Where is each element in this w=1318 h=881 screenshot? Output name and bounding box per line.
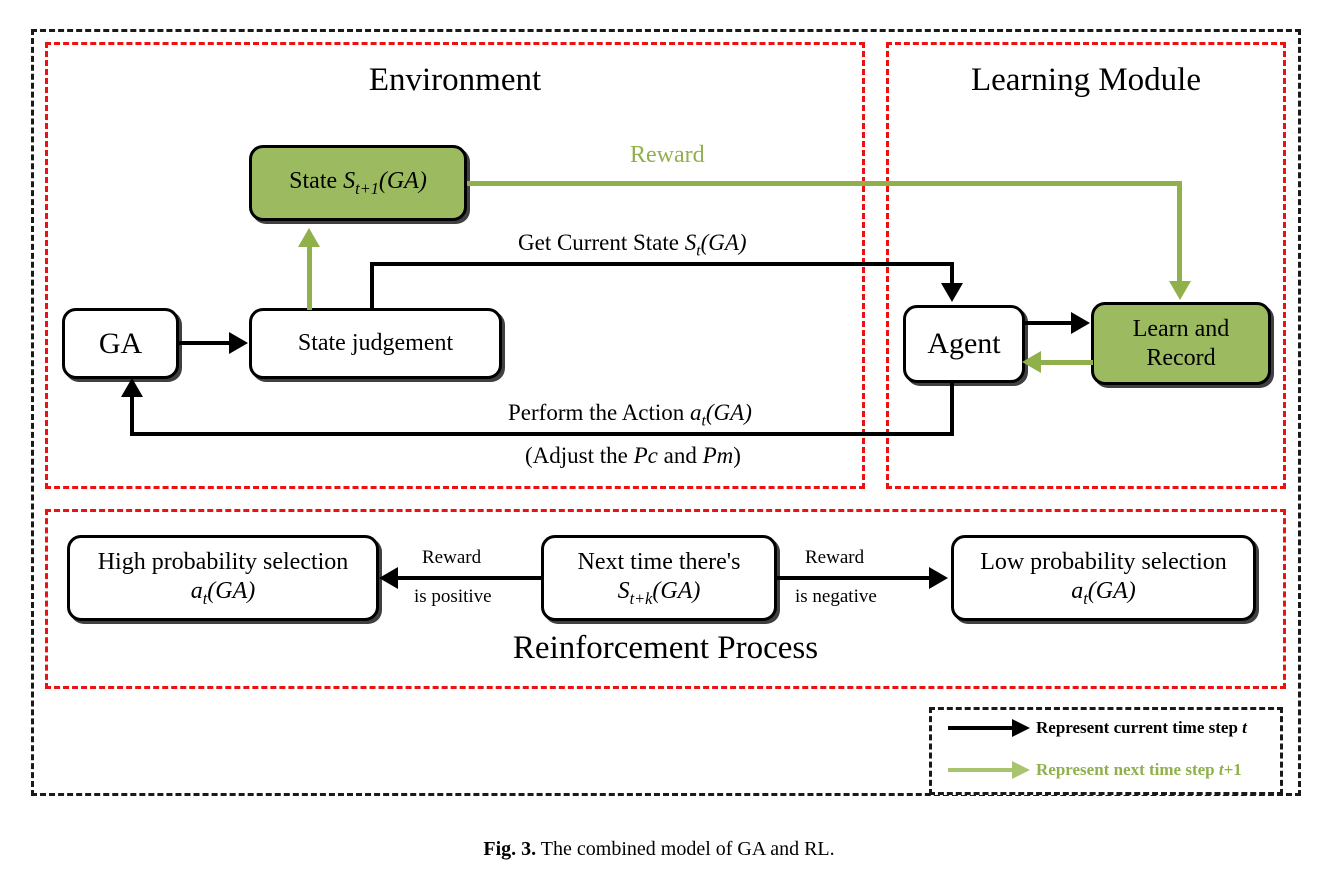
edge-label-perform-action: Perform the Action at(GA) [508, 400, 752, 431]
edge-negative-line [777, 576, 929, 580]
legend-current-label: Represent current time step t [1036, 718, 1247, 738]
node-low-probability-line1: Low probability selection [980, 548, 1227, 576]
edge-judgement-to-state-line [307, 246, 312, 310]
edge-agent-to-learn-arrow [1071, 312, 1090, 334]
node-low-probability-line2: at(GA) [1071, 577, 1136, 608]
edge-label-reward: Reward [630, 142, 705, 169]
node-ga[interactable]: GA [62, 308, 179, 379]
edge-learn-to-agent-line [1041, 360, 1093, 365]
legend-row-current-step: Represent current time step t [948, 718, 1247, 738]
reinforcement-title: Reinforcement Process [45, 630, 1286, 666]
figure-caption: Fig. 3. The combined model of GA and RL. [0, 838, 1318, 861]
node-ga-label: GA [99, 326, 142, 361]
edge-reward-horizontal [467, 181, 1182, 186]
edge-judgement-to-state-arrow [298, 228, 320, 247]
node-state-next[interactable]: State St+1(GA) [249, 145, 467, 221]
node-high-probability-line1: High probability selection [98, 548, 349, 576]
figure-canvas: Environment Learning Module Reinforcemen… [0, 0, 1318, 881]
node-state-next-label: State St+1(GA) [289, 167, 427, 198]
node-next-time[interactable]: Next time there's St+k(GA) [541, 535, 777, 621]
edge-positive-arrow [379, 567, 398, 589]
edge-perform-horizontal [130, 432, 954, 436]
edge-positive-line [398, 576, 543, 580]
node-learn-record-line2: Record [1146, 344, 1215, 372]
node-next-time-line2: St+k(GA) [618, 577, 701, 608]
edge-get-state-vertical-right [950, 262, 954, 285]
node-learn-record[interactable]: Learn and Record [1091, 302, 1271, 385]
environment-title: Environment [45, 62, 865, 98]
node-learn-record-line1: Learn and [1133, 315, 1230, 343]
edge-label-reward-positive-2: is positive [414, 586, 492, 608]
edge-agent-to-learn-line [1025, 321, 1073, 325]
edge-ga-to-judgement-arrow [229, 332, 248, 354]
edge-label-get-current-state: Get Current State St(GA) [518, 230, 747, 261]
edge-label-reward-positive-1: Reward [422, 547, 481, 569]
black-arrow-icon [948, 719, 1032, 737]
edge-negative-arrow [929, 567, 948, 589]
edge-reward-vertical [1177, 181, 1182, 281]
legend-row-next-step: Represent next time step t+1 [948, 760, 1242, 780]
edge-perform-arrow [121, 378, 143, 397]
node-next-time-line1: Next time there's [578, 548, 741, 576]
legend-next-label: Represent next time step t+1 [1036, 760, 1242, 780]
edge-get-state-horizontal [370, 262, 954, 266]
node-state-judgement-label: State judgement [298, 329, 453, 357]
node-low-probability[interactable]: Low probability selection at(GA) [951, 535, 1256, 621]
node-high-probability-line2: at(GA) [191, 577, 256, 608]
node-agent-label: Agent [927, 326, 1000, 361]
node-high-probability[interactable]: High probability selection at(GA) [67, 535, 379, 621]
edge-learn-to-agent-arrow [1022, 351, 1041, 373]
edge-label-adjust-parameters: (Adjust the Pc and Pm) [525, 443, 741, 469]
figure-caption-text: The combined model of GA and RL. [541, 838, 835, 860]
edge-get-state-arrow [941, 283, 963, 302]
edge-get-state-vertical-left [370, 262, 374, 310]
edge-label-reward-negative-1: Reward [805, 547, 864, 569]
node-state-judgement[interactable]: State judgement [249, 308, 502, 379]
learning-module-title: Learning Module [886, 62, 1286, 98]
edge-ga-to-judgement-line [179, 341, 229, 345]
edge-perform-vertical-right [950, 383, 954, 436]
edge-perform-vertical-left [130, 396, 134, 436]
edge-reward-arrow [1169, 281, 1191, 300]
green-arrow-icon [948, 761, 1032, 779]
figure-caption-label: Fig. 3. [483, 838, 536, 860]
edge-label-reward-negative-2: is negative [795, 586, 877, 608]
node-agent[interactable]: Agent [903, 305, 1025, 383]
